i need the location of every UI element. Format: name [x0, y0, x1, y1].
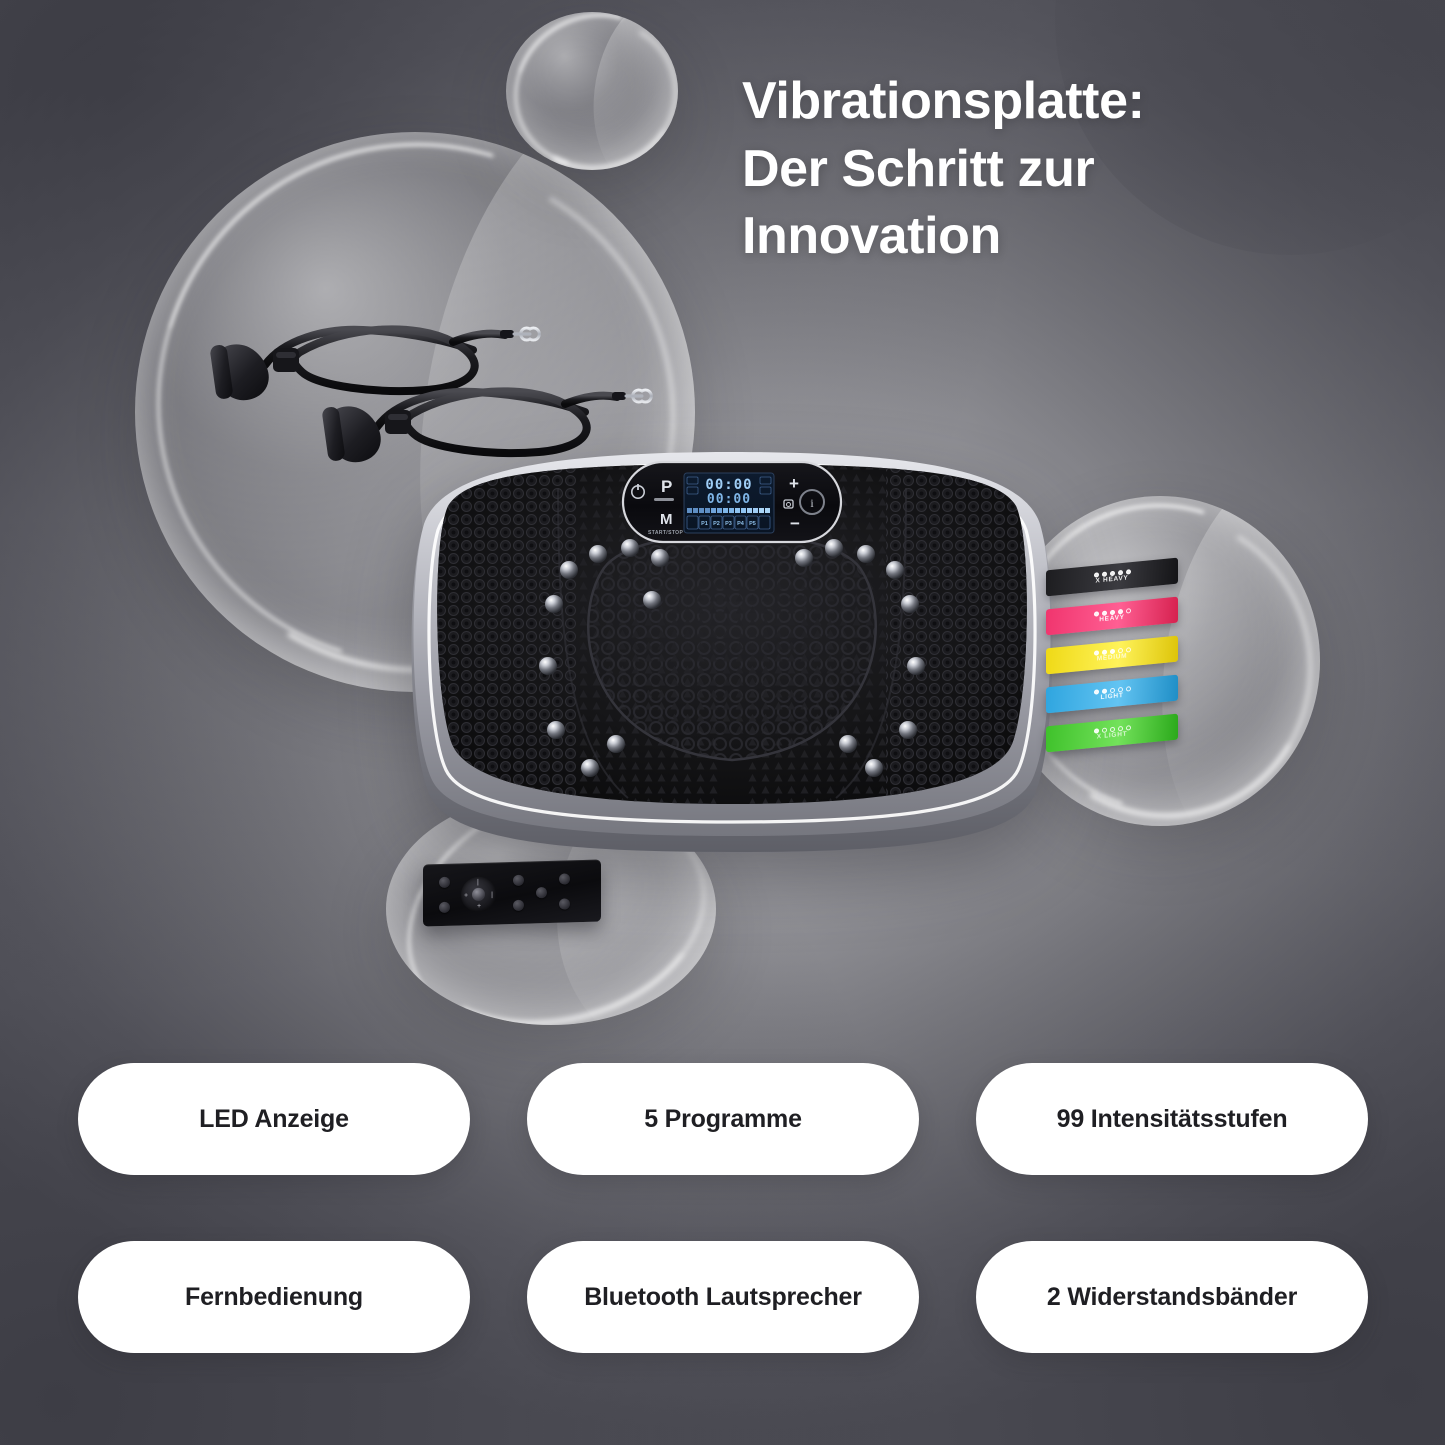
- headline-line-1: Vibrationsplatte:: [742, 68, 1342, 136]
- remote-control[interactable]: | + + |: [423, 860, 601, 927]
- svg-text:P4: P4: [737, 521, 745, 527]
- start-stop-button-label: M: [660, 511, 673, 528]
- control-panel: P M START/STOP: [623, 462, 841, 542]
- resistance-band-light: LIGHT: [1046, 675, 1178, 714]
- band-label: X LIGHT: [1097, 731, 1128, 740]
- remote-speed-up-button[interactable]: [559, 873, 570, 884]
- remote-dpad-center-button: [472, 888, 485, 901]
- remote-speed-down-button[interactable]: [559, 898, 570, 909]
- svg-text:START/STOP: START/STOP: [648, 530, 683, 536]
- svg-text:P2: P2: [713, 521, 720, 527]
- svg-text:P5: P5: [749, 521, 756, 527]
- remote-volume-up-button[interactable]: [513, 875, 524, 886]
- remote-power-button[interactable]: [439, 877, 450, 888]
- plus-button-label: +: [789, 474, 799, 493]
- minus-button-label: −: [790, 514, 800, 533]
- band-label: MEDIUM: [1097, 653, 1128, 662]
- band-label: X HEAVY: [1096, 575, 1129, 585]
- feature-pill-fernbedienung[interactable]: Fernbedienung: [78, 1241, 470, 1353]
- resistance-band-x-heavy: X HEAVY: [1046, 558, 1178, 597]
- headline-line-3: Innovation: [742, 203, 1342, 271]
- program-button-label: P: [661, 477, 672, 496]
- feature-pill-led-anzeige[interactable]: LED Anzeige: [78, 1063, 470, 1175]
- remote-dpad[interactable]: | + + |: [461, 876, 496, 912]
- resistance-band-medium: MEDIUM: [1046, 636, 1178, 675]
- lcd-time-secondary: 00:00: [707, 492, 751, 507]
- vibration-plate[interactable]: P M START/STOP: [408, 448, 1056, 860]
- svg-text:P1: P1: [701, 521, 708, 527]
- resistance-band-heavy: HEAVY: [1046, 597, 1178, 636]
- resistance-band-x-light: X LIGHT: [1046, 714, 1178, 753]
- page-title: Vibrationsplatte: Der Schritt zur Innova…: [742, 68, 1342, 271]
- remote-mode-button[interactable]: [439, 902, 450, 913]
- feature-pill-bluetooth-lautsprecher[interactable]: Bluetooth Lautsprecher: [527, 1241, 919, 1353]
- lcd-time-primary: 00:00: [705, 477, 752, 493]
- resistance-bands: X HEAVY HEAVY MEDIUM LIGHT X LIGHT: [1046, 564, 1226, 756]
- remote-function-button[interactable]: [536, 887, 547, 898]
- feature-pill-99-intensitaetsstufen[interactable]: 99 Intensitätsstufen: [976, 1063, 1368, 1175]
- feature-pill-5-programme[interactable]: 5 Programme: [527, 1063, 919, 1175]
- feature-pill-2-widerstandsbaender[interactable]: 2 Widerstandsbänder: [976, 1241, 1368, 1353]
- band-label: LIGHT: [1101, 693, 1124, 702]
- feature-pill-grid: LED Anzeige 5 Programme 99 Intensitätsst…: [78, 1063, 1368, 1353]
- svg-text:P3: P3: [725, 521, 732, 527]
- remote-volume-down-button[interactable]: [513, 900, 524, 911]
- product-marketing-image: Vibrationsplatte: Der Schritt zur Innova…: [0, 0, 1445, 1445]
- headline-line-2: Der Schritt zur: [742, 136, 1342, 204]
- band-label: HEAVY: [1099, 615, 1124, 624]
- glass-bubble-top: [506, 12, 678, 170]
